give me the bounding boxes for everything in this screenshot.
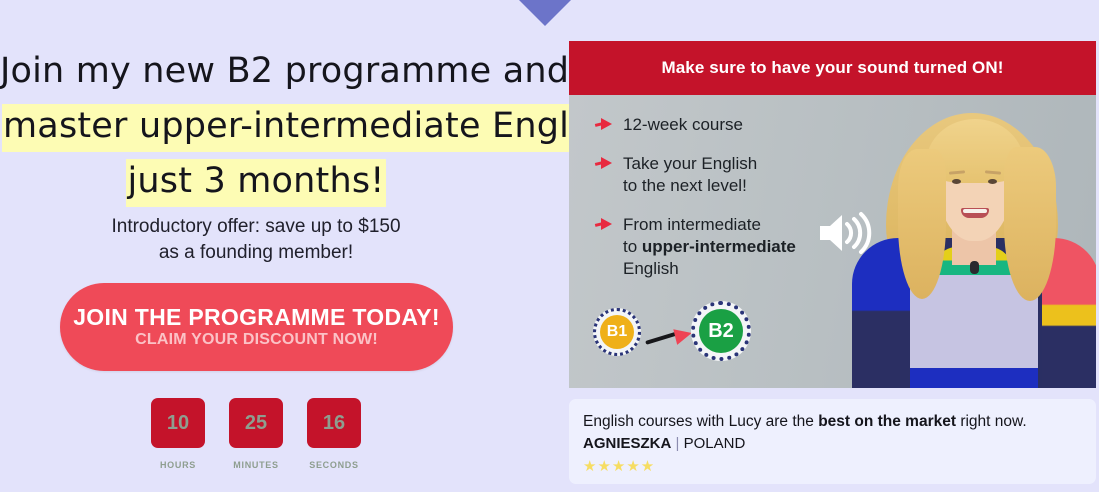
- countdown-unit: 25MINUTES: [229, 398, 283, 470]
- bullet-arrow-icon: [595, 218, 613, 230]
- countdown-label: SECONDS: [309, 460, 358, 470]
- rating-stars: ★★★★★: [583, 459, 1082, 474]
- testimonial-author-name: AGNIESZKA: [583, 435, 671, 452]
- testimonial-author-country: POLAND: [684, 435, 746, 452]
- bullet-arrow-icon: [595, 157, 613, 169]
- video-bullet-text: 12-week course: [623, 114, 743, 136]
- offer-subtitle: Introductory offer: save up to $150 as a…: [0, 214, 512, 266]
- presenter-photo: [848, 95, 1096, 388]
- countdown-timer: 10HOURS25MINUTES16SECONDS: [0, 398, 512, 470]
- countdown-value: 10: [151, 398, 205, 448]
- countdown-value: 16: [307, 398, 361, 448]
- video-bullet-list: 12-week courseTake your Englishto the ne…: [595, 114, 860, 297]
- progress-arrow-icon: [645, 327, 697, 343]
- offer-panel: Join my new B2 programme and master uppe…: [0, 0, 550, 492]
- video-bullet-item: Take your Englishto the next level!: [595, 153, 860, 197]
- video-panel: Make sure to have your sound turned ON! …: [560, 0, 1099, 492]
- video-player[interactable]: 12-week courseTake your Englishto the ne…: [569, 95, 1096, 388]
- page-headline: Join my new B2 programme and master uppe…: [0, 44, 512, 209]
- badge-b2-label: B2: [699, 309, 743, 353]
- sound-notice-text: Make sure to have your sound turned ON!: [661, 58, 1003, 78]
- testimonial-separator: |: [676, 435, 680, 452]
- testimonial-author: AGNIESZKA | POLAND: [583, 434, 1082, 454]
- badge-b1: B1: [593, 308, 641, 356]
- cta-sub-label: CLAIM YOUR DISCOUNT NOW!: [135, 332, 378, 348]
- sound-notice-banner: Make sure to have your sound turned ON!: [569, 41, 1096, 95]
- testimonial-card: English courses with Lucy are the best o…: [569, 399, 1096, 484]
- countdown-unit: 10HOURS: [151, 398, 205, 470]
- subtitle-line-1: Introductory offer: save up to $150: [111, 216, 400, 237]
- countdown-unit: 16SECONDS: [307, 398, 361, 470]
- join-programme-button[interactable]: JOIN THE PROGRAMME TODAY! CLAIM YOUR DIS…: [60, 283, 453, 371]
- cta-main-label: JOIN THE PROGRAMME TODAY!: [73, 306, 440, 329]
- badge-b2: B2: [691, 301, 751, 361]
- level-progress-badges: B1 B2: [587, 301, 767, 363]
- countdown-label: HOURS: [160, 460, 196, 470]
- countdown-value: 25: [229, 398, 283, 448]
- headline-line-3: just 3 months!: [126, 159, 385, 207]
- video-bullet-text: From intermediateto upper-intermediateEn…: [623, 214, 796, 280]
- video-bullet-text: Take your Englishto the next level!: [623, 153, 757, 197]
- video-bullet-item: 12-week course: [595, 114, 860, 136]
- subtitle-line-2: as a founding member!: [159, 242, 353, 263]
- badge-b1-label: B1: [600, 315, 634, 349]
- countdown-label: MINUTES: [233, 460, 278, 470]
- headline-line-1: Join my new B2 programme and: [0, 44, 512, 99]
- testimonial-quote: English courses with Lucy are the best o…: [583, 411, 1082, 432]
- bullet-arrow-icon: [595, 118, 613, 130]
